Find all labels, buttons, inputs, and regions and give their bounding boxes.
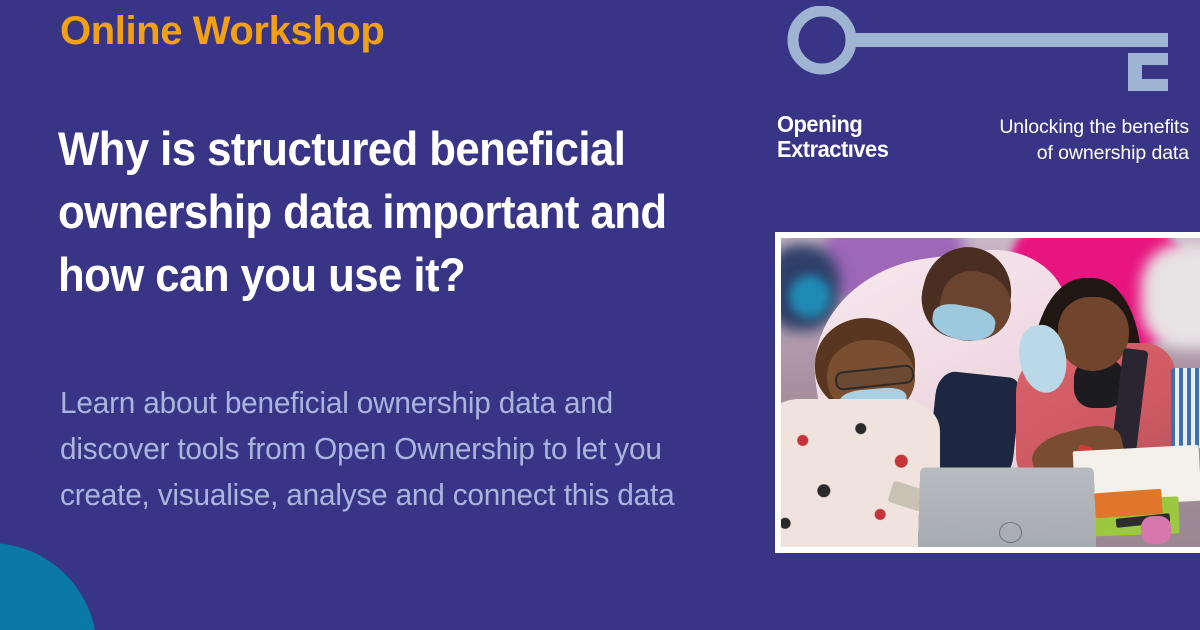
brand-wordmark: Opening Extractıves bbox=[777, 112, 888, 162]
wordmark-line-2: Extractıves bbox=[777, 137, 888, 162]
tagline-line-2: of ownership data bbox=[999, 140, 1189, 166]
wordmark-line-1: Opening bbox=[777, 111, 862, 137]
promo-card: Online Workshop Why is structured benefi… bbox=[0, 0, 1200, 630]
tagline-line-1: Unlocking the benefits bbox=[999, 116, 1189, 138]
left-content-column: Online Workshop Why is structured benefi… bbox=[0, 0, 760, 630]
right-brand-column: Opening Extractıves Unlocking the benefi… bbox=[760, 0, 1200, 630]
workshop-photo bbox=[781, 238, 1200, 547]
brand-tagline: Unlocking the benefits of ownership data bbox=[999, 112, 1189, 166]
key-icon bbox=[780, 6, 1180, 92]
eyebrow-label: Online Workshop bbox=[60, 8, 384, 54]
brand-lockup: Opening Extractıves Unlocking the benefi… bbox=[777, 112, 1189, 166]
page-title: Why is structured beneficial ownership d… bbox=[58, 118, 700, 307]
description-text: Learn about beneficial ownership data an… bbox=[60, 380, 713, 519]
photo-frame bbox=[775, 232, 1200, 553]
